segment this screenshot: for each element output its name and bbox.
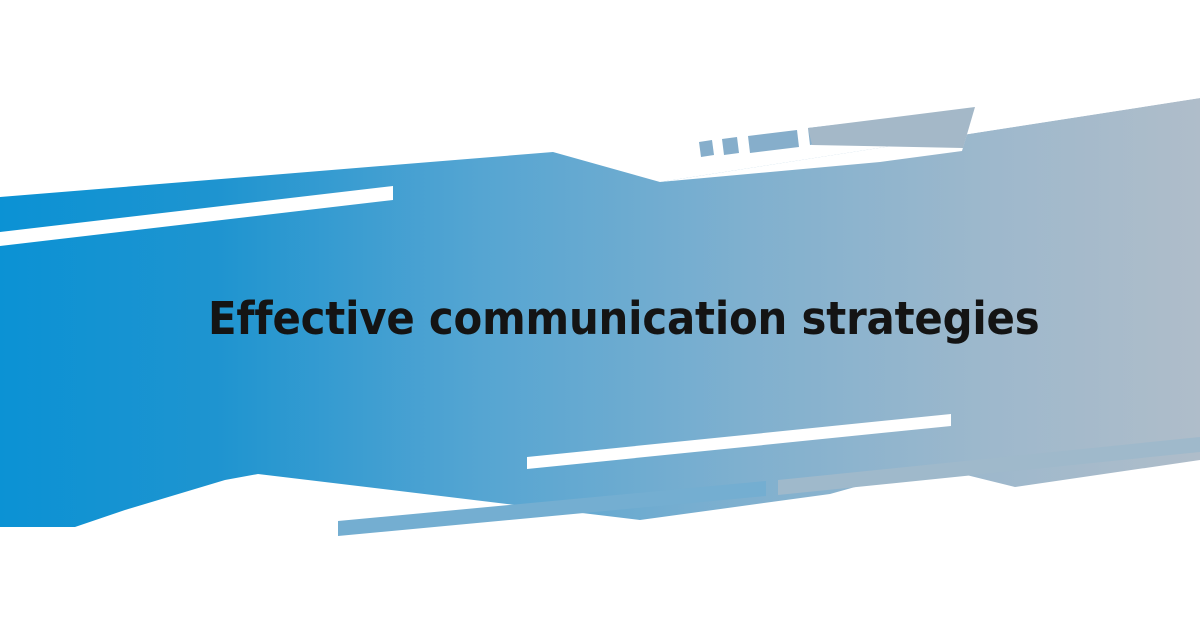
banner-card: Effective communication strategies [0, 0, 1200, 630]
title-layer: Effective communication strategies [0, 0, 1200, 630]
page-title: Effective communication strategies [208, 292, 1039, 346]
